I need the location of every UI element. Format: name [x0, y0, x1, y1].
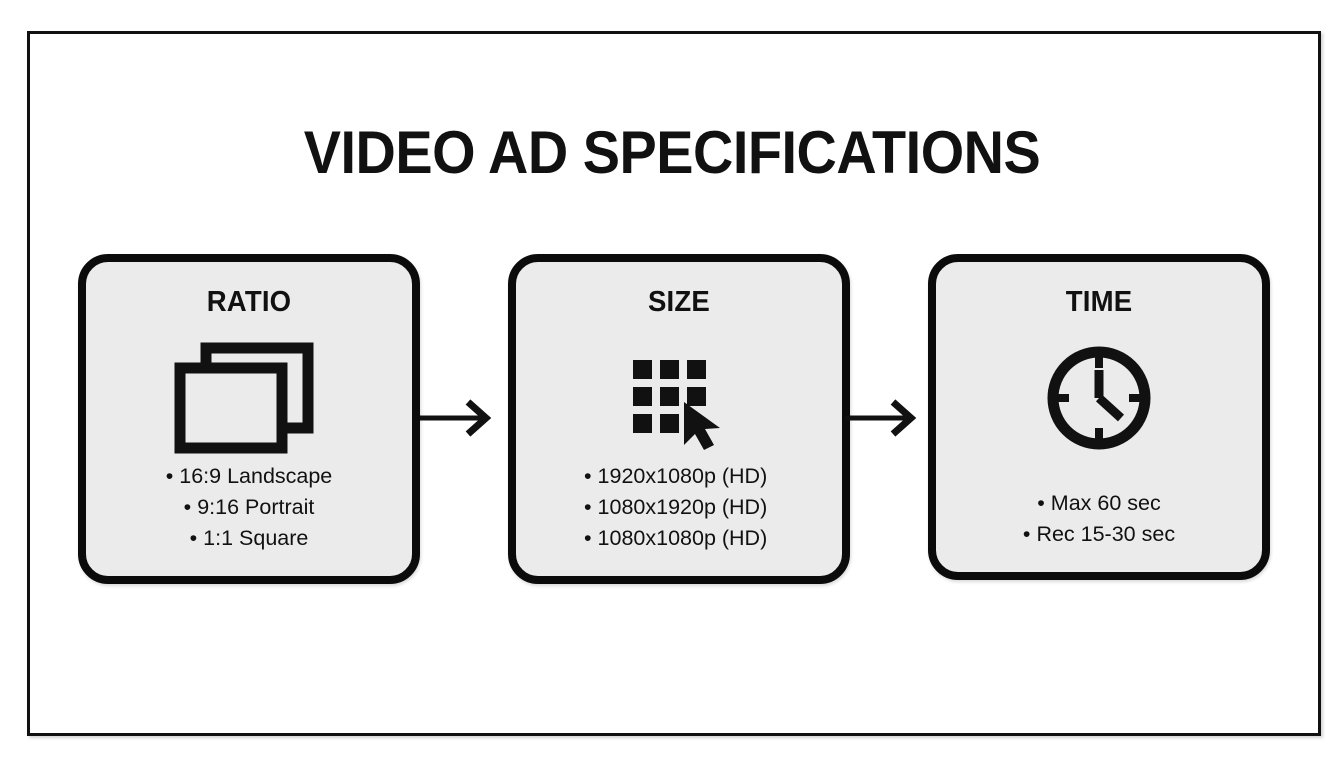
card-size-list: •1920x1080p (HD) •1080x1920p (HD) •1080x…: [516, 461, 842, 554]
list-item-label: 1080x1920p (HD): [598, 495, 768, 519]
grid-cursor-icon: [516, 334, 842, 462]
list-item: •1:1 Square: [100, 523, 398, 554]
card-size[interactable]: SIZE •1920x1080p (HD) •1080x1920p (: [508, 254, 850, 584]
card-time[interactable]: TIME •Max 60 sec •Rec 15-30 sec: [928, 254, 1270, 580]
card-time-title: TIME: [944, 286, 1254, 319]
list-item: •Max 60 sec: [950, 488, 1248, 519]
diagram-canvas: VIDEO AD SPECIFICATIONS RATIO •16:9 Land…: [0, 0, 1344, 768]
list-item: •1080x1920p (HD): [584, 492, 828, 523]
list-item-label: 1:1 Square: [203, 526, 308, 550]
bullet-glyph: •: [184, 492, 192, 523]
list-item: •9:16 Portrait: [100, 492, 398, 523]
arrow-ratio-to-size: [420, 398, 494, 438]
list-item-label: 9:16 Portrait: [197, 495, 314, 519]
bullet-glyph: •: [584, 523, 592, 554]
list-item-label: Max 60 sec: [1051, 491, 1161, 515]
bullet-glyph: •: [166, 461, 174, 492]
card-ratio[interactable]: RATIO •16:9 Landscape •9:16 Portrait •1:…: [78, 254, 420, 584]
clock-icon: [936, 334, 1262, 462]
bullet-glyph: •: [584, 461, 592, 492]
bullet-glyph: •: [190, 523, 198, 554]
list-item-label: 1920x1080p (HD): [598, 464, 768, 488]
card-time-list: •Max 60 sec •Rec 15-30 sec: [936, 488, 1262, 550]
list-item-label: Rec 15-30 sec: [1036, 522, 1175, 546]
list-item-label: 1080x1080p (HD): [598, 526, 768, 550]
card-size-title: SIZE: [524, 286, 834, 319]
card-ratio-list: •16:9 Landscape •9:16 Portrait •1:1 Squa…: [86, 461, 412, 554]
card-ratio-title: RATIO: [94, 286, 404, 319]
page-title: VIDEO AD SPECIFICATIONS: [47, 118, 1297, 187]
bullet-glyph: •: [1023, 519, 1031, 550]
list-item: •Rec 15-30 sec: [950, 519, 1248, 550]
bullet-glyph: •: [1037, 488, 1045, 519]
list-item: •16:9 Landscape: [100, 461, 398, 492]
list-item: •1080x1080p (HD): [584, 523, 828, 554]
bullet-glyph: •: [584, 492, 592, 523]
arrow-size-to-time: [845, 398, 919, 438]
list-item-label: 16:9 Landscape: [179, 464, 332, 488]
overlapping-rectangles-icon: [86, 334, 412, 462]
list-item: •1920x1080p (HD): [584, 461, 828, 492]
